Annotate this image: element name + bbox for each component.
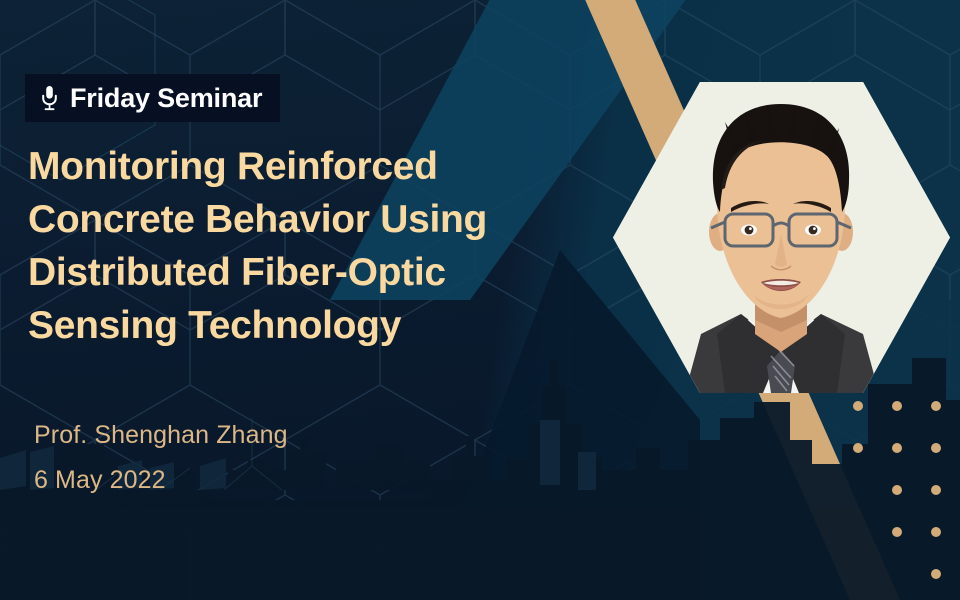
title-line-3: Distributed Fiber-Optic [28, 246, 608, 299]
title-line-1: Monitoring Reinforced [28, 140, 608, 193]
page-title: Monitoring Reinforced Concrete Behavior … [28, 140, 608, 352]
seminar-date: 6 May 2022 [34, 466, 166, 495]
speaker-name: Prof. Shenghan Zhang [34, 421, 288, 450]
badge-label: Friday Seminar [70, 85, 262, 112]
dot [931, 443, 941, 453]
dot [853, 443, 863, 453]
title-line-2: Concrete Behavior Using [28, 193, 608, 246]
dot [931, 401, 941, 411]
microphone-icon [41, 85, 58, 111]
friday-seminar-badge[interactable]: Friday Seminar [25, 74, 280, 122]
dot [892, 485, 902, 495]
dot-grid [845, 392, 960, 600]
seminar-poster: Friday Seminar Monitoring Reinforced Con… [0, 0, 960, 600]
dot [931, 527, 941, 537]
dot [892, 527, 902, 537]
dot [892, 401, 902, 411]
dot [931, 485, 941, 495]
dot [853, 401, 863, 411]
title-line-4: Sensing Technology [28, 299, 608, 352]
dot [892, 443, 902, 453]
dot [931, 569, 941, 579]
